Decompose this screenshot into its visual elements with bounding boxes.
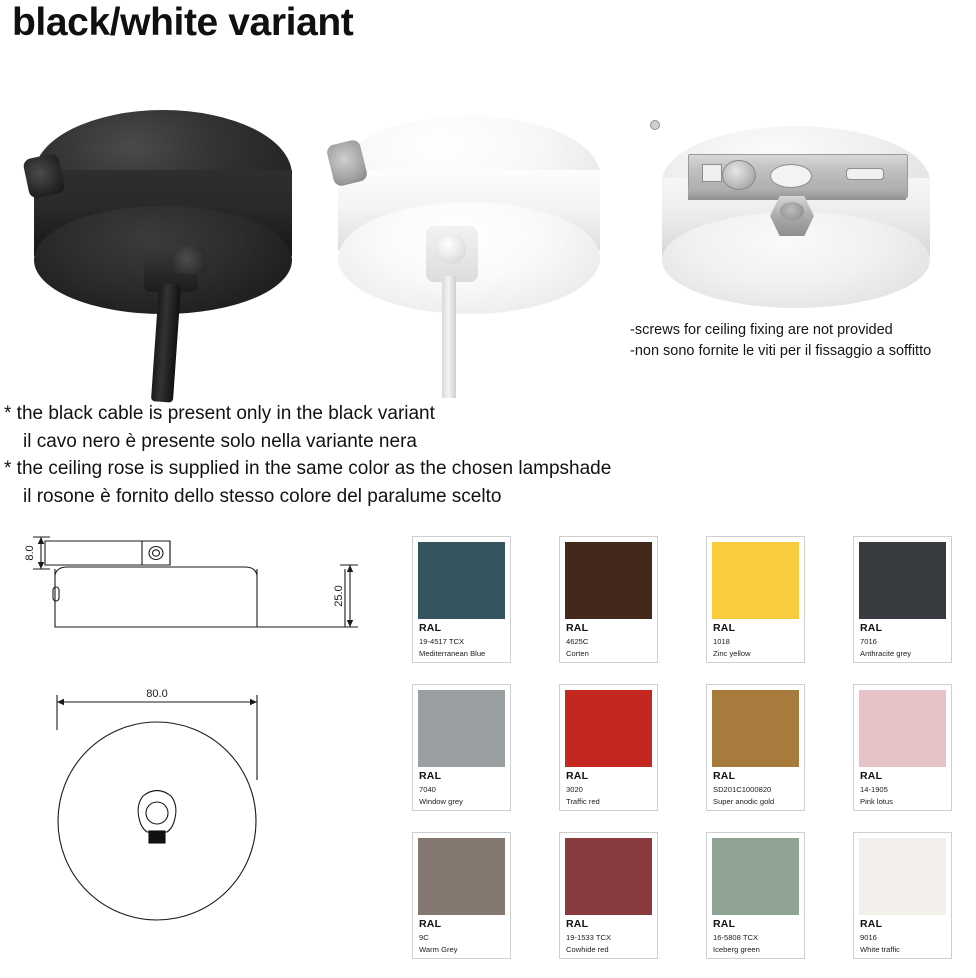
- swatch-meta: RAL9016White traffic: [859, 915, 946, 955]
- technical-drawings-svg: 8.0 25.0 80.0: [0, 525, 392, 968]
- color-swatch-card[interactable]: RAL4625CCorten: [559, 536, 658, 663]
- swatch-code: 19-1533 TCX: [566, 932, 651, 943]
- color-swatch-card[interactable]: RAL19-4517 TCXMediterranean Blue: [412, 536, 511, 663]
- swatch-brand-label: RAL: [566, 918, 651, 931]
- footnote-color-it: il rosone è fornito dello stesso colore …: [4, 483, 764, 511]
- swatch-name: Cowhide red: [566, 944, 651, 955]
- swatch-meta: RAL1018Zinc yellow: [712, 619, 799, 659]
- swatch-brand-label: RAL: [566, 770, 651, 783]
- swatch-code: 7040: [419, 784, 504, 795]
- side-view-depth-label: 25.0: [333, 585, 345, 606]
- color-swatch-card[interactable]: RALSD201C1000820Super anodic gold: [706, 684, 805, 811]
- color-chip: [418, 542, 505, 619]
- footnote-color-en: * the ceiling rose is supplied in the sa…: [4, 455, 764, 483]
- color-chip: [565, 838, 652, 915]
- color-swatch-card[interactable]: RAL3020Traffic red: [559, 684, 658, 811]
- color-chip: [712, 838, 799, 915]
- black-ceiling-rose-photo: [22, 98, 312, 398]
- bracket-pin-hole: [650, 120, 660, 130]
- swatch-name: Iceberg green: [713, 944, 798, 955]
- product-spec-sheet: black/white variant: [0, 0, 976, 968]
- swatch-brand-label: RAL: [713, 770, 798, 783]
- swatch-code: 3020: [566, 784, 651, 795]
- white-ceiling-rose-photo: [330, 106, 622, 406]
- color-swatch-card[interactable]: RAL16-5808 TCXIceberg green: [706, 832, 805, 959]
- swatch-brand-label: RAL: [566, 622, 651, 635]
- color-swatch-card[interactable]: RAL7040Window grey: [412, 684, 511, 811]
- swatch-brand-label: RAL: [860, 918, 945, 931]
- footnote-cable-it: il cavo nero è presente solo nella varia…: [4, 428, 764, 456]
- color-swatch-card[interactable]: RAL7016Anthracite grey: [853, 536, 952, 663]
- swatch-brand-label: RAL: [419, 622, 504, 635]
- top-view-drawing: 80.0: [57, 688, 257, 920]
- color-swatch-grid: RAL19-4517 TCXMediterranean BlueRAL4625C…: [412, 536, 952, 978]
- color-swatch-card[interactable]: RAL9CWarm Grey: [412, 832, 511, 959]
- swatch-name: Zinc yellow: [713, 648, 798, 659]
- swatch-name: Mediterranean Blue: [419, 648, 504, 659]
- transparent-cable: [442, 276, 456, 398]
- swatch-brand-label: RAL: [860, 622, 945, 635]
- top-view-diameter-label: 80.0: [146, 688, 167, 700]
- color-chip: [565, 690, 652, 767]
- color-chip: [859, 690, 946, 767]
- cable-grip-nut: [436, 234, 466, 264]
- swatch-code: 4625C: [566, 636, 651, 647]
- swatch-meta: RAL19-1533 TCXCowhide red: [565, 915, 652, 955]
- screws-note-it: -non sono fornite le viti per il fissagg…: [630, 341, 976, 362]
- swatch-meta: RAL7040Window grey: [418, 767, 505, 807]
- swatch-meta: RAL19-4517 TCXMediterranean Blue: [418, 619, 505, 659]
- bracket-oval-slot: [846, 168, 884, 180]
- swatch-meta: RAL16-5808 TCXIceberg green: [712, 915, 799, 955]
- color-chip: [712, 690, 799, 767]
- hex-nut-bore: [780, 202, 804, 220]
- swatch-code: 19-4517 TCX: [419, 636, 504, 647]
- swatch-code: 14-1905: [860, 784, 945, 795]
- footnote-cable-en: * the black cable is present only in the…: [4, 400, 764, 428]
- ceiling-rose-bracket-photo: [650, 120, 950, 350]
- swatch-code: 9C: [419, 932, 504, 943]
- swatch-name: Window grey: [419, 796, 504, 807]
- swatch-meta: RAL3020Traffic red: [565, 767, 652, 807]
- swatch-meta: RAL14-1905Pink lotus: [859, 767, 946, 807]
- side-view-height-label: 8.0: [24, 545, 36, 560]
- swatch-brand-label: RAL: [713, 918, 798, 931]
- swatch-meta: RAL4625CCorten: [565, 619, 652, 659]
- color-swatch-card[interactable]: RAL14-1905Pink lotus: [853, 684, 952, 811]
- color-swatch-card[interactable]: RAL19-1533 TCXCowhide red: [559, 832, 658, 959]
- swatch-brand-label: RAL: [860, 770, 945, 783]
- color-swatch-card[interactable]: RAL1018Zinc yellow: [706, 536, 805, 663]
- cable-grip-nut: [174, 248, 206, 274]
- swatch-name: Anthracite grey: [860, 648, 945, 659]
- footnotes: * the black cable is present only in the…: [4, 400, 764, 510]
- swatch-brand-label: RAL: [713, 622, 798, 635]
- page-title: black/white variant: [12, 2, 353, 45]
- swatch-code: 9016: [860, 932, 945, 943]
- swatch-meta: RAL7016Anthracite grey: [859, 619, 946, 659]
- color-chip: [418, 690, 505, 767]
- color-chip: [565, 542, 652, 619]
- screws-note-en: -screws for ceiling fixing are not provi…: [630, 320, 976, 341]
- color-swatch-card[interactable]: RAL9016White traffic: [853, 832, 952, 959]
- swatch-name: Corten: [566, 648, 651, 659]
- swatch-code: 1018: [713, 636, 798, 647]
- color-chip: [418, 838, 505, 915]
- swatch-brand-label: RAL: [419, 918, 504, 931]
- color-chip: [859, 838, 946, 915]
- color-chip: [859, 542, 946, 619]
- bracket-ring-washer: [722, 160, 756, 190]
- bracket-square-slot: [702, 164, 722, 182]
- swatch-meta: RAL9CWarm Grey: [418, 915, 505, 955]
- color-chip: [712, 542, 799, 619]
- swatch-name: Pink lotus: [860, 796, 945, 807]
- swatch-code: 16-5808 TCX: [713, 932, 798, 943]
- swatch-name: White traffic: [860, 944, 945, 955]
- swatch-name: Traffic red: [566, 796, 651, 807]
- swatch-meta: RALSD201C1000820Super anodic gold: [712, 767, 799, 807]
- bracket-center-hole: [770, 164, 812, 188]
- swatch-brand-label: RAL: [419, 770, 504, 783]
- swatch-code: SD201C1000820: [713, 784, 798, 795]
- technical-drawings: 8.0 25.0 80.0: [0, 525, 392, 968]
- swatch-name: Super anodic gold: [713, 796, 798, 807]
- swatch-name: Warm Grey: [419, 944, 504, 955]
- swatch-code: 7016: [860, 636, 945, 647]
- screws-note: -screws for ceiling fixing are not provi…: [630, 320, 976, 361]
- side-view-drawing: 8.0 25.0: [24, 537, 358, 627]
